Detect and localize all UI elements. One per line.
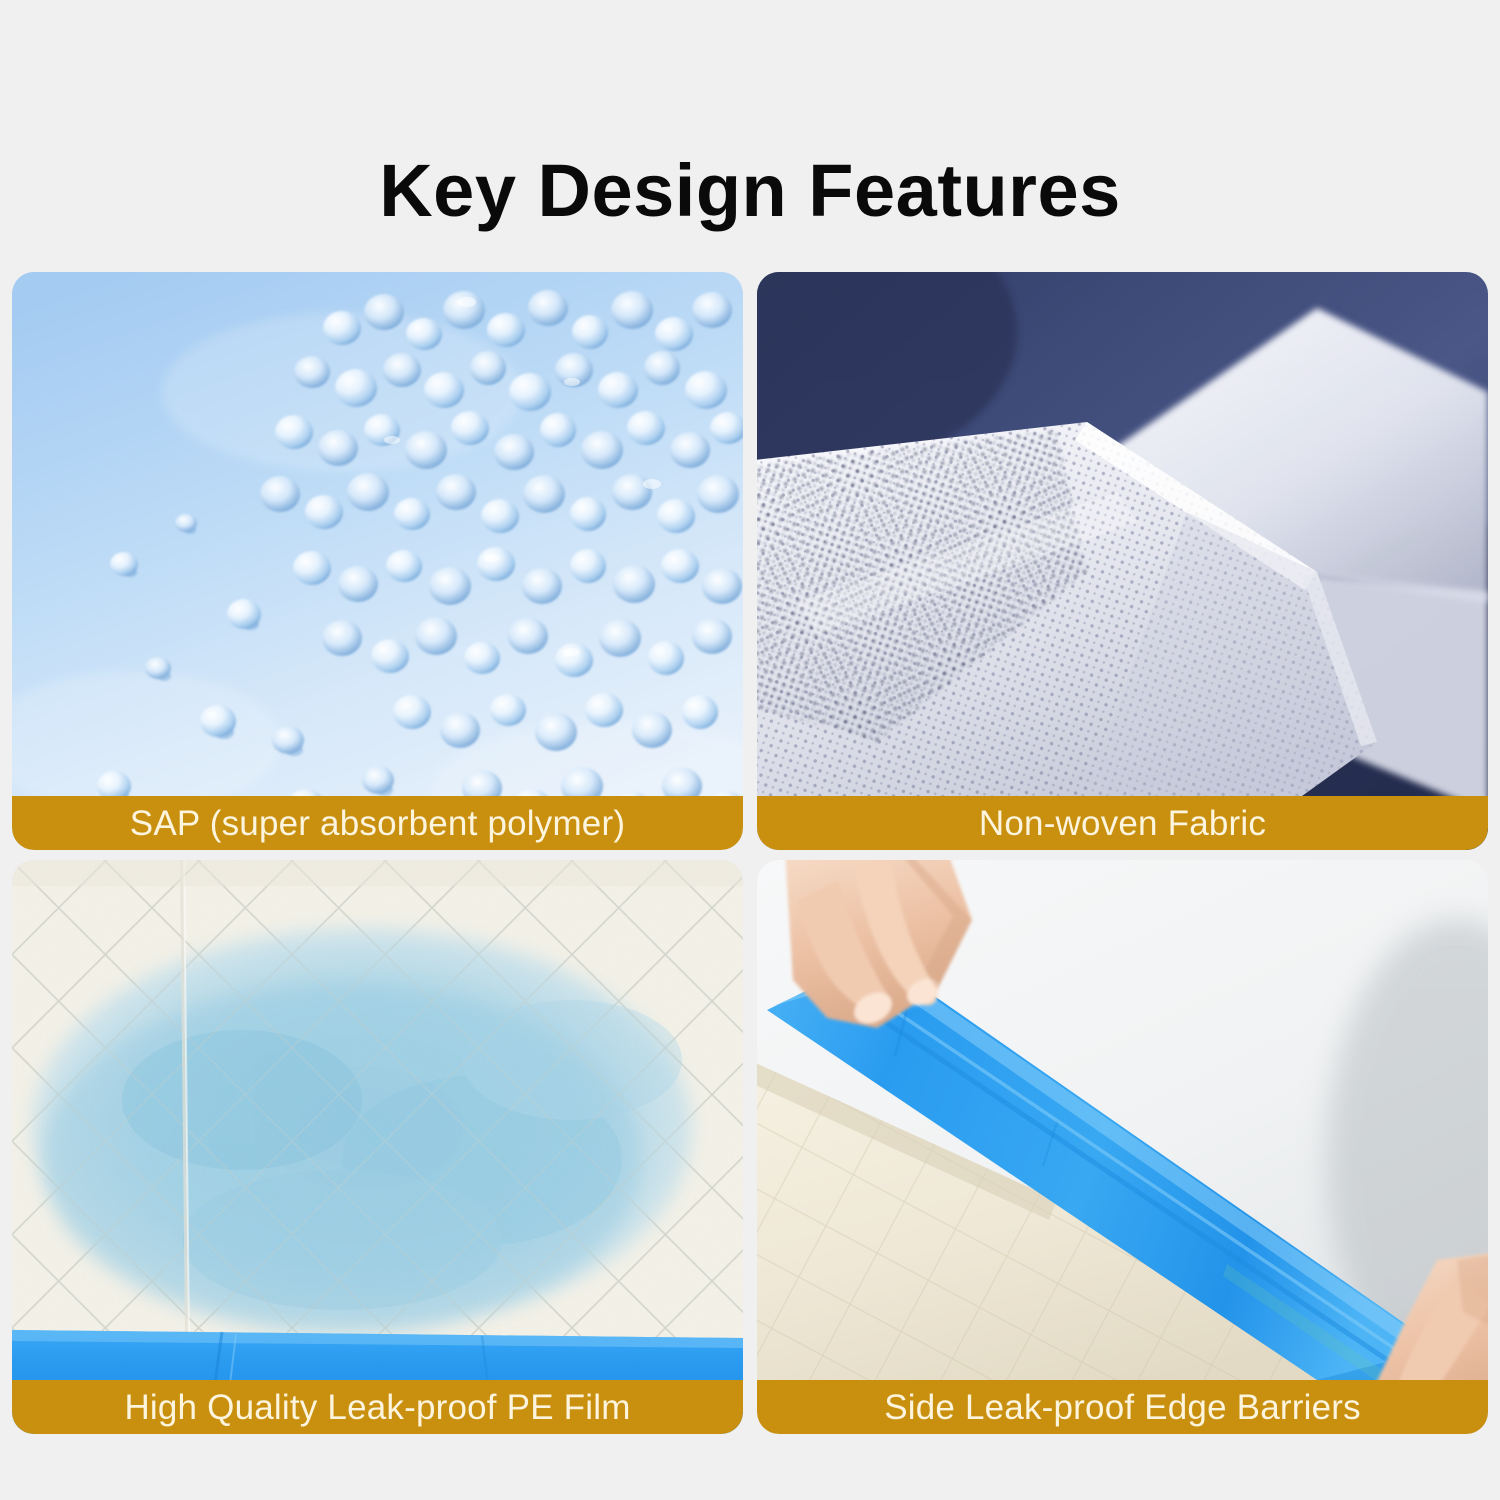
infographic-page: Key Design Features [0,0,1500,1500]
sap-beads-photo [12,272,743,850]
feature-grid: SAP (super absorbent polymer) [12,272,1488,1434]
non-woven-fabric-photo [757,272,1488,850]
feature-card-pe-film[interactable]: High Quality Leak-proof PE Film [12,860,743,1434]
edge-barrier-photo [757,860,1488,1434]
caption-bar-sap: SAP (super absorbent polymer) [12,796,743,850]
caption-label-edge-barriers: Side Leak-proof Edge Barriers [884,1390,1361,1425]
page-title-container: Key Design Features [0,104,1500,277]
caption-bar-pe-film: High Quality Leak-proof PE Film [12,1380,743,1434]
caption-bar-non-woven-fabric: Non-woven Fabric [757,796,1488,850]
caption-bar-edge-barriers: Side Leak-proof Edge Barriers [757,1380,1488,1434]
caption-label-non-woven-fabric: Non-woven Fabric [979,806,1266,841]
feature-card-sap[interactable]: SAP (super absorbent polymer) [12,272,743,850]
caption-label-pe-film: High Quality Leak-proof PE Film [124,1390,630,1425]
pe-film-photo [12,860,743,1434]
page-title: Key Design Features [379,154,1121,228]
feature-card-non-woven-fabric[interactable]: Non-woven Fabric [757,272,1488,850]
caption-label-sap: SAP (super absorbent polymer) [130,806,625,841]
feature-card-edge-barriers[interactable]: Side Leak-proof Edge Barriers [757,860,1488,1434]
